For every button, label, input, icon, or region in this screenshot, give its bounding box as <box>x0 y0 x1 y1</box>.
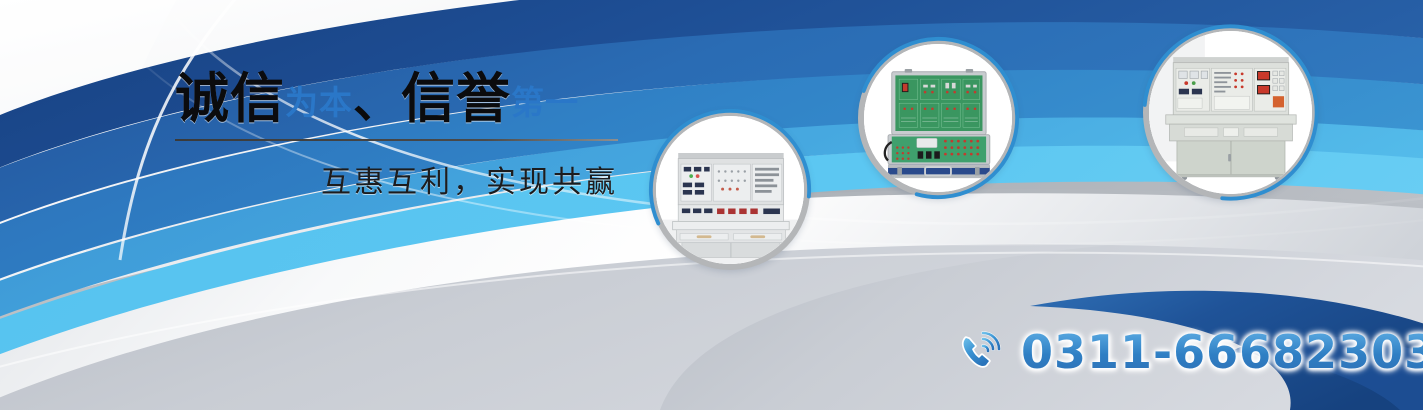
product-photo-workbench <box>656 116 804 264</box>
product-circle-1[interactable] <box>650 110 810 270</box>
contact-phone-block[interactable]: 0311-66682303 <box>955 325 1423 379</box>
phone-number[interactable]: 0311-66682303 <box>1021 325 1423 379</box>
product-photo-training-case <box>864 44 1012 192</box>
promotional-banner: 诚信为本、信誉第一 互惠互利，实现共赢 <box>0 0 1423 410</box>
main-slogan: 诚信为本、信誉第一 <box>175 72 625 126</box>
slogan-part1-big: 诚信 <box>175 67 285 130</box>
slogan-part2-small: 第一 <box>511 83 579 122</box>
slogan-part2-big: 信誉 <box>401 67 511 130</box>
slogan-separator: 、 <box>353 73 401 129</box>
slogan-block: 诚信为本、信誉第一 互惠互利，实现共赢 <box>175 72 625 201</box>
product-photo-test-bench <box>1149 31 1312 194</box>
product-circle-3[interactable] <box>1143 25 1318 200</box>
phone-call-icon <box>955 326 1007 378</box>
slogan-part1-small: 为本 <box>285 83 353 122</box>
product-circle-2[interactable] <box>858 38 1018 198</box>
slogan-divider <box>175 139 618 141</box>
slogan-subtitle: 互惠互利，实现共赢 <box>175 157 618 201</box>
